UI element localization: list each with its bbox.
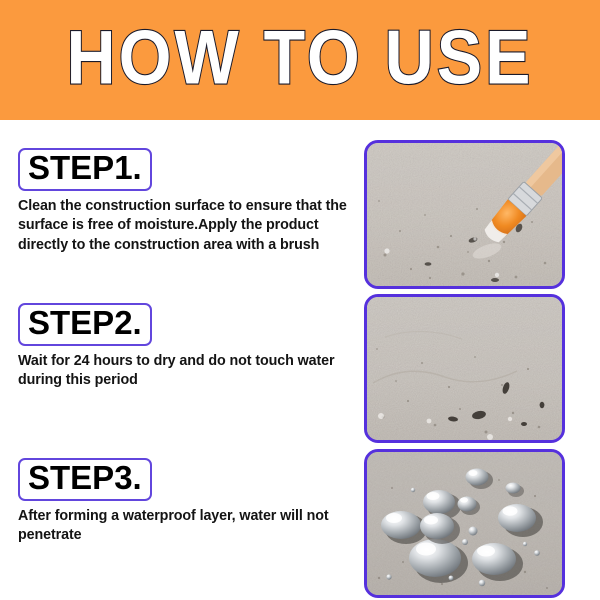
step-photo-3 xyxy=(364,449,565,598)
step-description-3: After forming a waterproof layer, water … xyxy=(18,507,354,546)
step-badge-3: STEP3. xyxy=(18,458,152,501)
step-badge-label-2: STEP2. xyxy=(28,306,142,341)
water-beading-droplets-on-concrete-icon xyxy=(367,452,562,595)
step-description-1: Clean the construction surface to ensure… xyxy=(18,197,354,256)
step-item-2: STEP2. Wait for 24 hours to dry and do n… xyxy=(18,303,354,391)
step-badge-label-1: STEP1. xyxy=(28,151,142,186)
step-description-2: Wait for 24 hours to dry and do not touc… xyxy=(18,352,354,391)
steps-list: STEP1. Clean the construction surface to… xyxy=(0,120,360,600)
step-item-3: STEP3. After forming a waterproof layer,… xyxy=(18,458,354,546)
dry-concrete-surface-icon xyxy=(367,297,562,440)
step-photo-1 xyxy=(364,140,565,289)
step-badge-1: STEP1. xyxy=(18,148,152,191)
step-item-1: STEP1. Clean the construction surface to… xyxy=(18,148,354,256)
step-photo-2 xyxy=(364,294,565,443)
step-badge-label-3: STEP3. xyxy=(28,461,142,496)
step-badge-2: STEP2. xyxy=(18,303,152,346)
step-photos xyxy=(364,0,600,600)
brush-applying-product-on-concrete-icon xyxy=(367,143,562,286)
